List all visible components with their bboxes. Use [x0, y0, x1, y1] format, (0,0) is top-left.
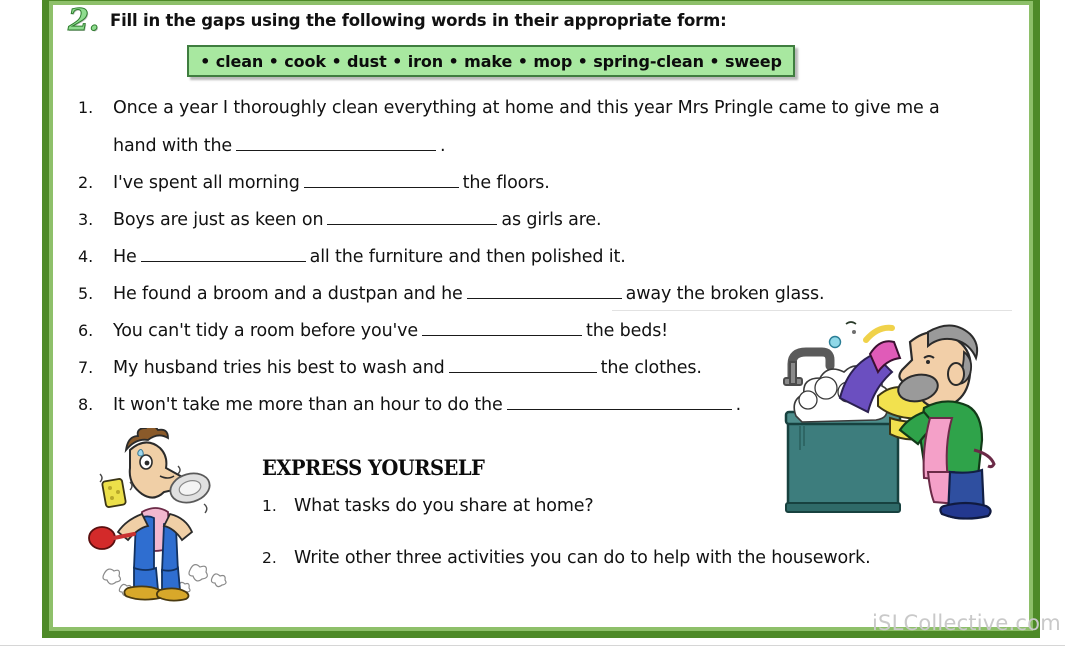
- express-item-text: Write other three activities you can do …: [294, 548, 871, 568]
- question-text: He found a broom and a dustpan and he: [113, 284, 463, 304]
- answer-blank[interactable]: [467, 283, 622, 299]
- question-text: the beds!: [586, 321, 668, 341]
- question-text: You can't tidy a room before you've: [113, 321, 418, 341]
- question-text: Boys are just as keen on: [113, 210, 323, 230]
- answer-blank[interactable]: [449, 357, 597, 373]
- question-text: hand with the: [113, 136, 232, 156]
- question-number: 5.: [78, 284, 113, 303]
- question-text: I've spent all morning: [113, 173, 300, 193]
- answer-blank[interactable]: [327, 209, 497, 225]
- question-number: 3.: [78, 210, 113, 229]
- question-text: all the furniture and then polished it.: [310, 247, 626, 267]
- express-yourself-item: 2. Write other three activities you can …: [262, 548, 902, 568]
- question-number: 1.: [78, 98, 113, 117]
- answer-blank[interactable]: [422, 320, 582, 336]
- express-item-number: 2.: [262, 549, 294, 567]
- question-number: 2.: [78, 173, 113, 192]
- question-text: as girls are.: [501, 210, 601, 230]
- answer-blank[interactable]: [304, 172, 459, 188]
- watermark: iSLCollective.com: [872, 611, 1061, 635]
- man-juggling-dishes-illustration: [86, 428, 238, 608]
- answer-blank[interactable]: [236, 135, 436, 151]
- answer-blank[interactable]: [507, 394, 732, 410]
- express-item-number: 1.: [262, 497, 294, 515]
- answer-blank[interactable]: [141, 246, 306, 262]
- express-yourself-title: EXPRESS YOURSELF: [262, 455, 857, 480]
- instruction-text: Fill in the gaps using the following wor…: [110, 11, 727, 30]
- instruction-header: 2. Fill in the gaps using the following …: [68, 8, 968, 38]
- question-text: the clothes.: [601, 358, 702, 378]
- word-bank-box: • clean • cook • dust • iron • make • mo…: [187, 45, 795, 77]
- question-number: 4.: [78, 247, 113, 266]
- question-number: 7.: [78, 358, 113, 377]
- question-number: 8.: [78, 395, 113, 414]
- man-washing-dishes-illustration: [778, 300, 1000, 522]
- question-text: .: [440, 136, 445, 156]
- word-bank-text: • clean • cook • dust • iron • make • mo…: [200, 52, 782, 71]
- express-item-text: What tasks do you share at home?: [294, 496, 593, 516]
- question-text: It won't take me more than an hour to do…: [113, 395, 503, 415]
- question-text: Once a year I thoroughly clean everythin…: [113, 98, 940, 118]
- question-row: 3. Boys are just as keen on as girls are…: [78, 209, 1018, 246]
- question-number: 6.: [78, 321, 113, 340]
- question-text: the floors.: [463, 173, 550, 193]
- question-row: 4. He all the furniture and then polishe…: [78, 246, 1018, 283]
- footer-rule: [0, 645, 1065, 646]
- exercise-number: 2.: [68, 6, 99, 36]
- question-row: 1. Once a year I thoroughly clean everyt…: [78, 98, 1018, 172]
- question-text: .: [736, 395, 741, 415]
- question-row: 2. I've spent all morning the floors.: [78, 172, 1018, 209]
- question-text: My husband tries his best to wash and: [113, 358, 445, 378]
- question-text: He: [113, 247, 137, 267]
